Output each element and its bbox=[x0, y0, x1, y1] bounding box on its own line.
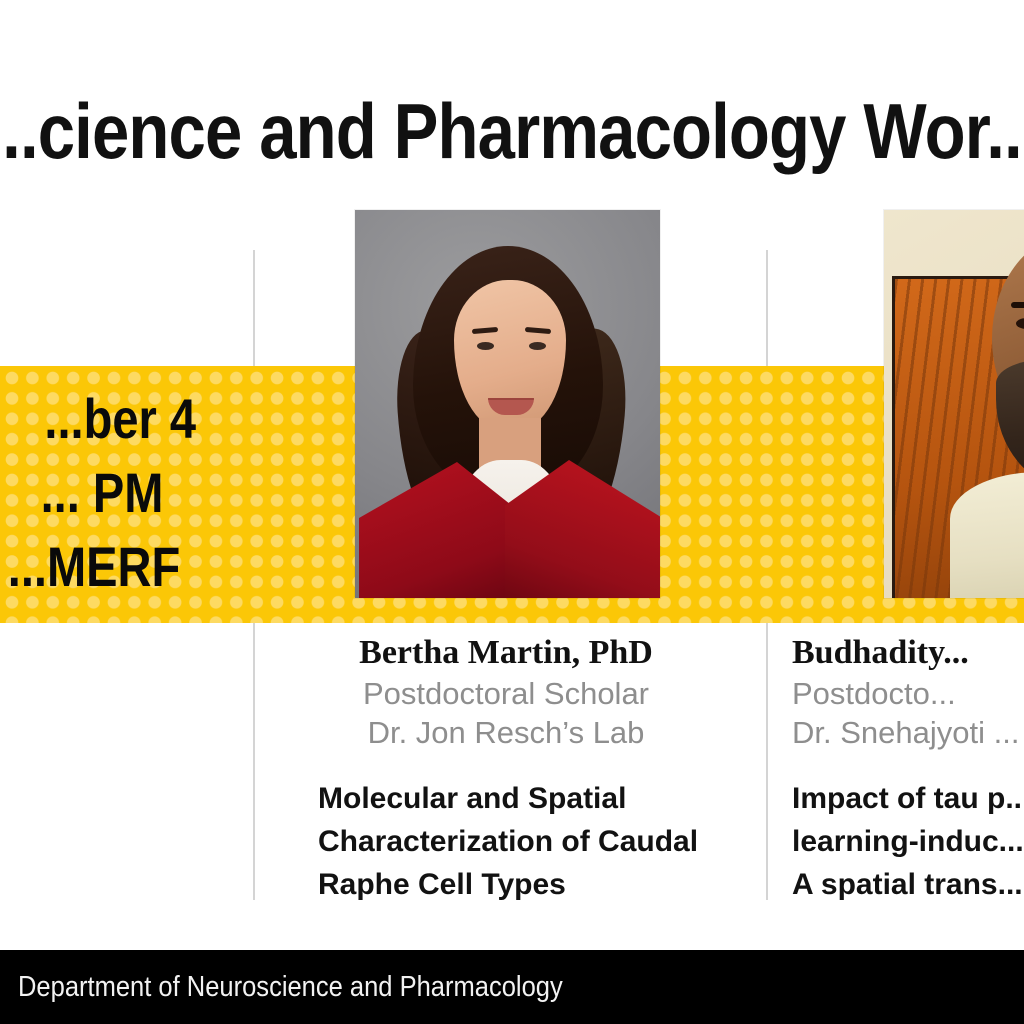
speaker-role: Postdocto... bbox=[792, 674, 1024, 713]
speaker-info-1: Bertha Martin, PhD Postdoctoral Scholar … bbox=[280, 632, 732, 752]
page-title: ...cience and Pharmacology Wor... bbox=[0, 86, 1024, 176]
footer-bar: Department of Neuroscience and Pharmacol… bbox=[0, 950, 1024, 1024]
speaker-lab: Dr. Jon Resch’s Lab bbox=[280, 713, 732, 752]
eye-right bbox=[529, 342, 546, 350]
speaker-lab: Dr. Snehajyoti ... bbox=[792, 713, 1024, 752]
speaker-name: Budhadity... bbox=[792, 632, 1024, 674]
talk-title-line: A spatial trans... bbox=[792, 863, 1024, 906]
talk-title-line: Molecular and Spatial bbox=[318, 777, 698, 820]
talk-title-2: Impact of tau p... learning-induc... A s… bbox=[792, 777, 1024, 906]
speaker-photo-2 bbox=[884, 210, 1024, 598]
event-date: ...ber 4 bbox=[44, 382, 195, 456]
speaker-info-2: Budhadity... Postdocto... Dr. Snehajyoti… bbox=[792, 632, 1024, 752]
speaker-role: Postdoctoral Scholar bbox=[280, 674, 732, 713]
talk-title-line: Characterization of Caudal bbox=[318, 820, 698, 863]
speaker-name: Bertha Martin, PhD bbox=[280, 632, 732, 674]
talk-title-1: Molecular and Spatial Characterization o… bbox=[318, 777, 698, 906]
speaker-photo-1 bbox=[355, 210, 660, 598]
poster-title-row: ...cience and Pharmacology Wor... bbox=[0, 86, 1024, 176]
talk-title-line: Impact of tau p... bbox=[792, 777, 1024, 820]
department-name: Department of Neuroscience and Pharmacol… bbox=[18, 970, 563, 1004]
talk-title-line: learning-induc... bbox=[792, 820, 1024, 863]
event-time: ... PM bbox=[11, 456, 192, 530]
eye-left bbox=[477, 342, 494, 350]
event-details-text: ...ber 4 ... PM ...MERF bbox=[0, 382, 210, 604]
event-location: ...MERF bbox=[0, 530, 191, 604]
event-poster: ...cience and Pharmacology Wor... ...ber… bbox=[0, 0, 1024, 1024]
eyebrow-left bbox=[1011, 302, 1024, 308]
talk-title-line: Raphe Cell Types bbox=[318, 863, 698, 906]
